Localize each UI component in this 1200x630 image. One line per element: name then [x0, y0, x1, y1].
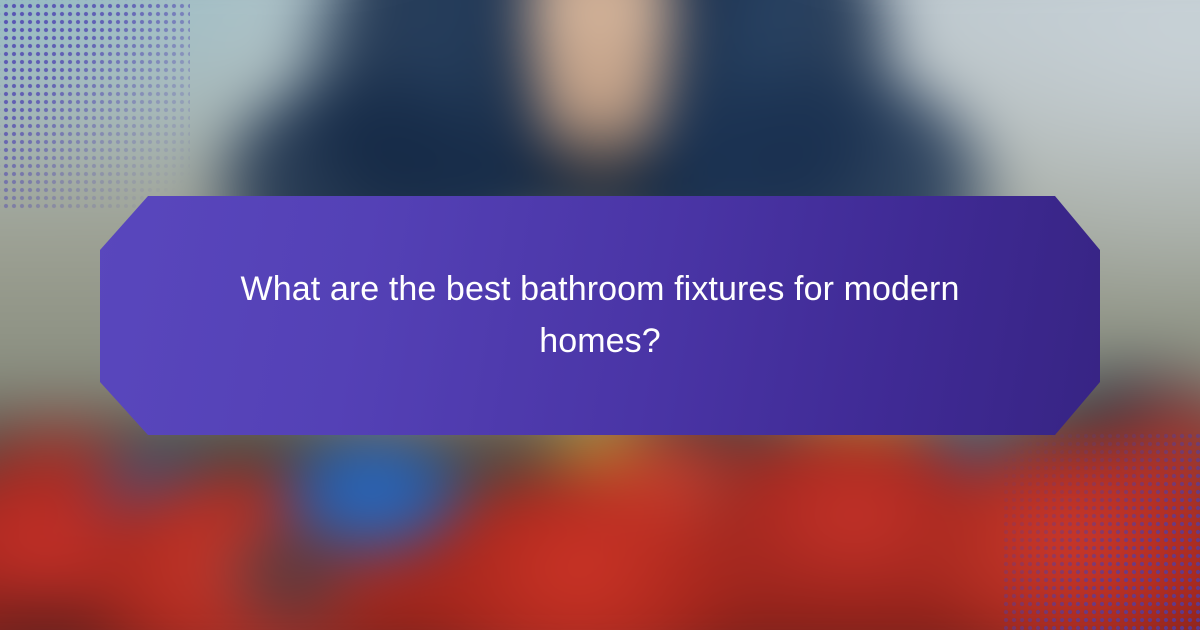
hero-card: What are the best bathroom fixtures for … [0, 0, 1200, 630]
banner-title: What are the best bathroom fixtures for … [100, 264, 1100, 367]
title-banner: What are the best bathroom fixtures for … [100, 196, 1100, 435]
